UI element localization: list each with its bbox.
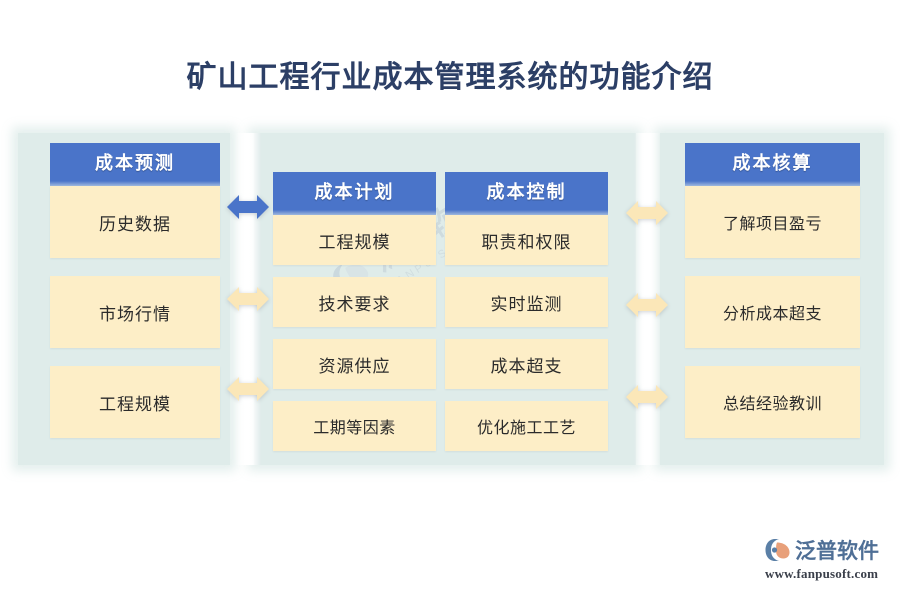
- cell-cost-control-0[interactable]: 职责和权限: [445, 215, 608, 265]
- arrow-left-mid-3: [227, 372, 269, 406]
- cell-cost-forecast-1[interactable]: 市场行情: [50, 276, 220, 348]
- column-header-cost-control[interactable]: 成本控制: [445, 172, 608, 210]
- arrow-mid-right-2: [626, 288, 668, 322]
- arrow-left-mid-1: [227, 190, 269, 224]
- cell-cost-forecast-0[interactable]: 历史数据: [50, 186, 220, 258]
- diagram-stage: 泛普软件 FANPU SOFTWARE 成本预测 历史数据 市场行情 工程规模 …: [0, 0, 900, 600]
- cell-cost-control-1[interactable]: 实时监测: [445, 277, 608, 327]
- column-cost-control: 成本控制 职责和权限 实时监测 成本超支 优化施工工艺: [445, 172, 608, 444]
- cell-cost-accounting-1[interactable]: 分析成本超支: [685, 276, 860, 348]
- brand-logo: 泛普软件 www.fanpusoft.com: [765, 535, 885, 583]
- cell-cost-accounting-2[interactable]: 总结经验教训: [685, 366, 860, 438]
- arrow-left-mid-2: [227, 282, 269, 316]
- fanpu-logo-icon: [765, 538, 791, 562]
- cell-cost-accounting-0[interactable]: 了解项目盈亏: [685, 186, 860, 258]
- brand-cn-text: 泛普软件: [795, 535, 879, 565]
- arrow-mid-right-1: [626, 196, 668, 230]
- column-cost-accounting: 成本核算 了解项目盈亏 分析成本超支 总结经验教训: [685, 143, 860, 455]
- cell-cost-control-2[interactable]: 成本超支: [445, 339, 608, 389]
- brand-url-text: www.fanpusoft.com: [765, 566, 885, 582]
- column-cost-plan: 成本计划 工程规模 技术要求 资源供应 工期等因素: [273, 172, 436, 444]
- column-cost-forecast: 成本预测 历史数据 市场行情 工程规模: [50, 143, 220, 455]
- column-header-cost-forecast[interactable]: 成本预测: [50, 143, 220, 181]
- cell-cost-plan-1[interactable]: 技术要求: [273, 277, 436, 327]
- cell-cost-control-3[interactable]: 优化施工工艺: [445, 401, 608, 451]
- column-header-cost-accounting[interactable]: 成本核算: [685, 143, 860, 181]
- cell-cost-forecast-2[interactable]: 工程规模: [50, 366, 220, 438]
- arrow-mid-right-3: [626, 380, 668, 414]
- cell-cost-plan-3[interactable]: 工期等因素: [273, 401, 436, 451]
- column-header-cost-plan[interactable]: 成本计划: [273, 172, 436, 210]
- cell-cost-plan-2[interactable]: 资源供应: [273, 339, 436, 389]
- cell-cost-plan-0[interactable]: 工程规模: [273, 215, 436, 265]
